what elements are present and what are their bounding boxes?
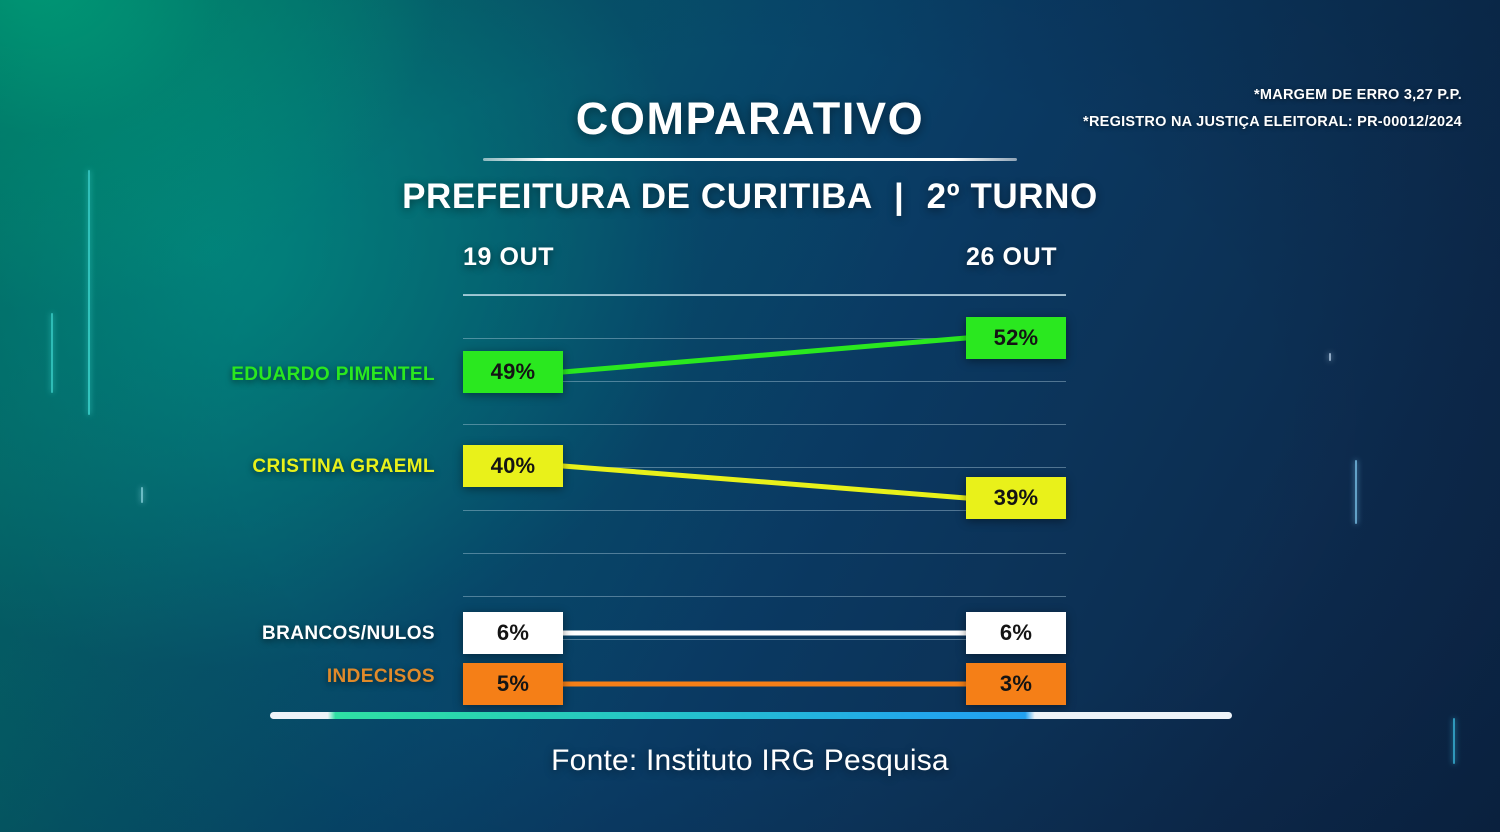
series-label-cristina: CRISTINA GRAEML <box>0 456 435 478</box>
series-label-indecisos: INDECISOS <box>0 666 435 688</box>
value-box-brancos-right: 6% <box>966 612 1066 654</box>
value-box-eduardo-right: 52% <box>966 317 1066 359</box>
connector-cristina <box>563 466 966 498</box>
value-box-indecisos-right: 3% <box>966 663 1066 705</box>
gridline-8 <box>463 596 1066 597</box>
series-label-brancos: BRANCOS/NULOS <box>0 623 435 645</box>
value-box-cristina-right: 39% <box>966 477 1066 519</box>
value-box-cristina-left: 40% <box>463 445 563 487</box>
gridline-4 <box>463 424 1066 425</box>
value-box-brancos-left: 6% <box>463 612 563 654</box>
comparison-chart: 19 OUT 26 OUT EDUARDO PIMENTELCRISTINA G… <box>0 0 1500 832</box>
series-connector-lines <box>0 0 1500 832</box>
poll-comparison-graphic: COMPARATIVO PREFEITURA DE CURITIBA | 2º … <box>0 0 1500 832</box>
value-box-indecisos-left: 5% <box>463 663 563 705</box>
source-credit: Fonte: Instituto IRG Pesquisa <box>0 744 1500 778</box>
value-box-eduardo-left: 49% <box>463 351 563 393</box>
column-header-date-2: 26 OUT <box>966 243 1057 272</box>
series-label-eduardo: EDUARDO PIMENTEL <box>0 364 435 386</box>
connector-eduardo <box>563 338 966 372</box>
footer-divider-bar <box>270 712 1232 719</box>
gridline-7 <box>463 553 1066 554</box>
gridline-1 <box>463 295 1066 296</box>
column-header-date-1: 19 OUT <box>463 243 554 272</box>
